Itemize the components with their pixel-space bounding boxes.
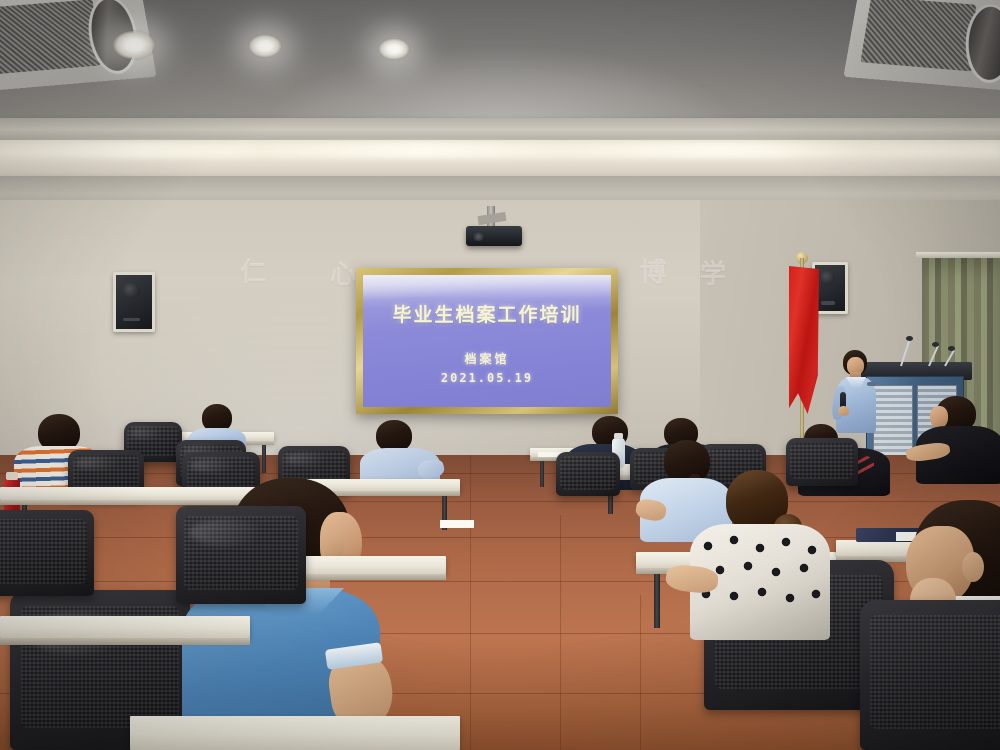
desk[interactable] bbox=[0, 616, 250, 638]
ear bbox=[962, 552, 984, 582]
ac-grille bbox=[860, 0, 975, 71]
ac-grille bbox=[0, 0, 100, 75]
photo-scene: 仁 心 博 学 毕业生档案工作培训 档案馆 2021.05.19 bbox=[0, 0, 1000, 750]
speaker-port bbox=[821, 301, 835, 304]
wall-ghost-lettering: 博 bbox=[640, 252, 670, 289]
chair-highlight bbox=[285, 453, 325, 465]
chair-mesh-back bbox=[0, 519, 87, 584]
attendee-heart-pattern-top bbox=[690, 470, 830, 640]
desk-leg bbox=[654, 574, 660, 628]
ceiling-projector bbox=[466, 226, 522, 246]
microphone-head-icon bbox=[948, 346, 955, 351]
chair-mesh-back bbox=[560, 456, 616, 489]
speaker-cone bbox=[820, 271, 834, 285]
wall-ghost-lettering: 学 bbox=[700, 254, 730, 291]
slide-title: 毕业生档案工作培训 bbox=[363, 300, 611, 327]
projection-screen-frame: 毕业生档案工作培训 档案馆 2021.05.19 bbox=[356, 268, 618, 414]
uniform-shoulder-badge bbox=[867, 382, 876, 386]
chair-highlight bbox=[189, 520, 261, 545]
ceiling-downlight bbox=[378, 38, 410, 60]
chair-highlight bbox=[190, 459, 233, 472]
desk[interactable] bbox=[130, 716, 460, 750]
chair[interactable] bbox=[0, 510, 94, 596]
projection-screen[interactable]: 毕业生档案工作培训 档案馆 2021.05.19 bbox=[363, 275, 611, 407]
chair[interactable] bbox=[176, 506, 306, 604]
slide-subtitle: 档案馆 bbox=[363, 350, 611, 367]
paper-document[interactable] bbox=[440, 520, 474, 528]
microphone-head-icon bbox=[906, 336, 913, 341]
speaker-cone bbox=[122, 283, 139, 299]
ceiling-downlight bbox=[112, 30, 156, 60]
chair-mesh-back bbox=[870, 615, 1000, 729]
cove-light-strip bbox=[0, 142, 1000, 158]
wall-speaker-left bbox=[113, 272, 155, 332]
bottle-cap bbox=[6, 472, 18, 480]
projector-lens-icon bbox=[473, 232, 484, 241]
slide-date: 2021.05.19 bbox=[363, 371, 611, 385]
chair[interactable] bbox=[556, 452, 620, 496]
presenter-hand bbox=[838, 406, 849, 416]
wall-ghost-lettering: 仁 bbox=[240, 252, 270, 289]
speaker-port bbox=[123, 318, 140, 322]
ceiling-downlight bbox=[248, 34, 282, 58]
microphone-head-icon bbox=[932, 342, 939, 347]
desk-leg bbox=[540, 461, 544, 487]
ceiling-ac-right bbox=[843, 0, 1000, 92]
desk-edge bbox=[0, 638, 250, 645]
attendee-black-shirt-right bbox=[908, 396, 1000, 486]
desk-leg bbox=[262, 445, 266, 473]
face bbox=[930, 406, 948, 428]
chair-highlight bbox=[130, 428, 162, 438]
chair[interactable] bbox=[860, 600, 1000, 750]
bottle-cap bbox=[614, 433, 623, 439]
